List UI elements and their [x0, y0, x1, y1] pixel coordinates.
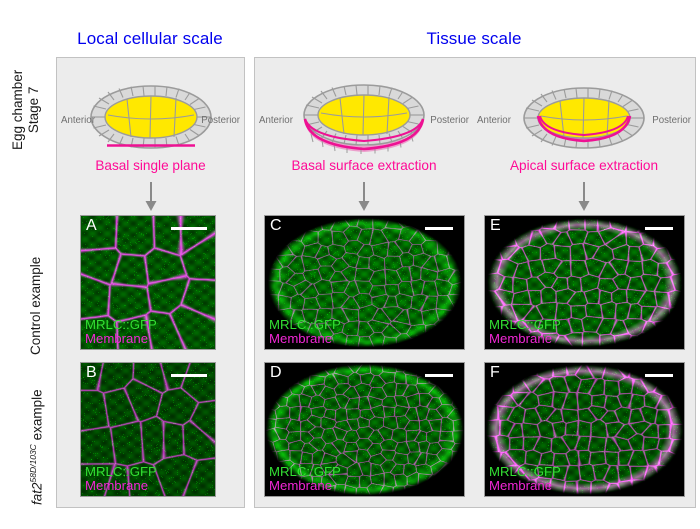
channel-label-magenta-b: Membrane [85, 479, 148, 492]
schematic-label-anterior: Anterior [259, 115, 293, 126]
column-basal-single-plane: Anterior Posterior Basal single plane A … [57, 58, 244, 507]
group-box-tissue-scale: Anterior Posterior Basal surface extract… [254, 57, 696, 508]
panel-letter-c: C [270, 217, 282, 235]
row-label-control-example: Control example [28, 257, 43, 355]
panel-letter-a: A [86, 217, 97, 235]
column-apical-surface-extraction: Anterior Posterior Apical surface extrac… [473, 58, 695, 507]
scale-bar-f [645, 374, 673, 377]
channel-label-green-b: MRLC::GFP [85, 465, 157, 478]
micrograph-panel-a[interactable]: A MRLC::GFP Membrane [80, 215, 216, 350]
panel-letter-b: B [86, 364, 97, 382]
schematic-label-anterior: Anterior [477, 115, 511, 126]
micrograph-panel-e[interactable]: E MRLC::GFP Membrane [484, 215, 685, 350]
group-box-local-cellular-scale: Anterior Posterior Basal single plane A … [56, 57, 245, 508]
figure-root: Local cellular scale Tissue scale Egg ch… [0, 0, 700, 529]
channel-label-green-c: MRLC::GFP [269, 318, 341, 331]
panel-letter-d: D [270, 364, 282, 382]
channel-label-magenta-c: Membrane [269, 332, 332, 345]
channel-label-magenta-d: Membrane [269, 479, 332, 492]
channel-label-magenta-f: Membrane [489, 479, 552, 492]
schematic-label-posterior: Posterior [652, 115, 691, 126]
micrograph-panel-c[interactable]: C MRLC::GFP Membrane [264, 215, 465, 350]
extraction-caption-basal-single-plane: Basal single plane [57, 158, 244, 173]
scale-group-title-tissue: Tissue scale [254, 29, 694, 49]
down-arrow-icon [357, 182, 371, 217]
row-label-egg-chamber: Egg chamber [10, 70, 26, 150]
scale-bar-a [171, 227, 207, 230]
micrograph-panel-d[interactable]: D MRLC::GFP Membrane [264, 362, 465, 497]
schematic-label-anterior: Anterior [61, 115, 95, 126]
channel-label-magenta-a: Membrane [85, 332, 148, 345]
down-arrow-icon [577, 182, 591, 217]
down-arrow-icon [144, 182, 158, 217]
row-label-fat2-gene: fat2 [30, 482, 45, 505]
micrograph-panel-f[interactable]: F MRLC::GFP Membrane [484, 362, 685, 497]
micrograph-panel-b[interactable]: B MRLC::GFP Membrane [80, 362, 216, 497]
scale-bar-d [425, 374, 453, 377]
channel-label-green-e: MRLC::GFP [489, 318, 561, 331]
scale-bar-e [645, 227, 673, 230]
row-label-fat2-example: fat258D/103C example [28, 389, 45, 505]
schematic-egg-chamber-basal-surface [289, 82, 439, 165]
row-label-egg-chamber-stage: Egg chamber Stage 7 [10, 70, 42, 150]
schematic-label-posterior: Posterior [430, 115, 469, 126]
row-label-fat2-suffix: example [30, 389, 45, 440]
column-basal-surface-extraction: Anterior Posterior Basal surface extract… [255, 58, 473, 507]
extraction-caption-apical-surface-extraction: Apical surface extraction [473, 158, 695, 173]
extraction-caption-basal-surface-extraction: Basal surface extraction [255, 158, 473, 173]
panel-letter-e: E [490, 217, 501, 235]
channel-label-green-f: MRLC::GFP [489, 465, 561, 478]
panel-letter-f: F [490, 364, 500, 382]
scale-group-title-local: Local cellular scale [55, 29, 245, 49]
schematic-egg-chamber-apical-surface [509, 82, 659, 165]
schematic-egg-chamber-basal-plane [81, 82, 221, 161]
scale-bar-c [425, 227, 453, 230]
row-label-fat2-allele: 58D/103C [28, 444, 38, 482]
scale-bar-b [171, 374, 207, 377]
schematic-label-posterior: Posterior [201, 115, 240, 126]
channel-label-magenta-e: Membrane [489, 332, 552, 345]
channel-label-green-d: MRLC::GFP [269, 465, 341, 478]
channel-label-green-a: MRLC::GFP [85, 318, 157, 331]
row-label-stage-7: Stage 7 [26, 70, 42, 150]
